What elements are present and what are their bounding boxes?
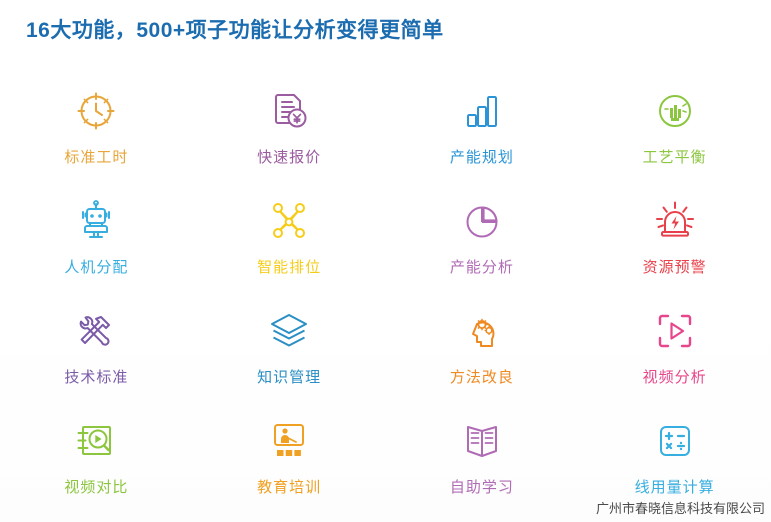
alarm-siren-icon (646, 192, 704, 250)
feature-label: 快速报价 (257, 146, 321, 167)
clock-icon (67, 82, 125, 140)
network-nodes-icon (260, 192, 318, 250)
feature-label: 工艺平衡 (643, 146, 707, 167)
feature-label: 智能排位 (257, 256, 321, 277)
document-yuan-icon (260, 82, 318, 140)
wrench-hammer-icon (67, 302, 125, 360)
feature-label: 方法改良 (450, 366, 514, 387)
video-frame-play-icon (646, 302, 704, 360)
feature-label: 视频分析 (643, 366, 707, 387)
feature-label: 标准工时 (64, 146, 128, 167)
feature-item-quick-quote[interactable]: 快速报价 (193, 82, 386, 192)
feature-label: 技术标准 (64, 366, 128, 387)
feature-item-smart-layout[interactable]: 智能排位 (193, 192, 386, 302)
feature-item-video-analysis[interactable]: 视频分析 (578, 302, 771, 412)
feature-item-method-improvement[interactable]: 方法改良 (386, 302, 579, 412)
feature-label: 线用量计算 (635, 476, 715, 497)
feature-label: 教育培训 (257, 476, 321, 497)
video-compare-icon (67, 412, 125, 470)
balance-circle-icon (646, 82, 704, 140)
bar-chart-icon (453, 82, 511, 140)
head-gears-icon (453, 302, 511, 360)
feature-label: 资源预警 (643, 256, 707, 277)
feature-item-technical-standard[interactable]: 技术标准 (0, 302, 193, 412)
page-title: 16大功能，500+项子功能让分析变得更简单 (26, 14, 444, 44)
feature-item-knowledge-management[interactable]: 知识管理 (193, 302, 386, 412)
calculator-icon (646, 412, 704, 470)
feature-label: 人机分配 (64, 256, 128, 277)
feature-item-capacity-analysis[interactable]: 产能分析 (386, 192, 579, 302)
pie-chart-icon (453, 192, 511, 250)
feature-item-standard-hours[interactable]: 标准工时 (0, 82, 193, 192)
feature-label: 视频对比 (64, 476, 128, 497)
robot-icon (67, 192, 125, 250)
feature-grid: 标准工时 快速报价 产能规划 (0, 82, 771, 522)
feature-item-resource-alert[interactable]: 资源预警 (578, 192, 771, 302)
company-watermark: 广州市春晓信息科技有限公司 (596, 498, 765, 517)
training-board-icon (260, 412, 318, 470)
feature-item-capacity-planning[interactable]: 产能规划 (386, 82, 579, 192)
feature-label: 知识管理 (257, 366, 321, 387)
feature-grid-page: 16大功能，500+项子功能让分析变得更简单 标准工时 (0, 0, 771, 522)
layers-icon (260, 302, 318, 360)
feature-label: 产能规划 (450, 146, 514, 167)
feature-item-man-machine-allocation[interactable]: 人机分配 (0, 192, 193, 302)
feature-label: 产能分析 (450, 256, 514, 277)
feature-item-education-training[interactable]: 教育培训 (193, 412, 386, 522)
feature-label: 自助学习 (450, 476, 514, 497)
feature-item-video-comparison[interactable]: 视频对比 (0, 412, 193, 522)
feature-item-self-study[interactable]: 自助学习 (386, 412, 579, 522)
open-book-icon (453, 412, 511, 470)
feature-item-process-balance[interactable]: 工艺平衡 (578, 82, 771, 192)
